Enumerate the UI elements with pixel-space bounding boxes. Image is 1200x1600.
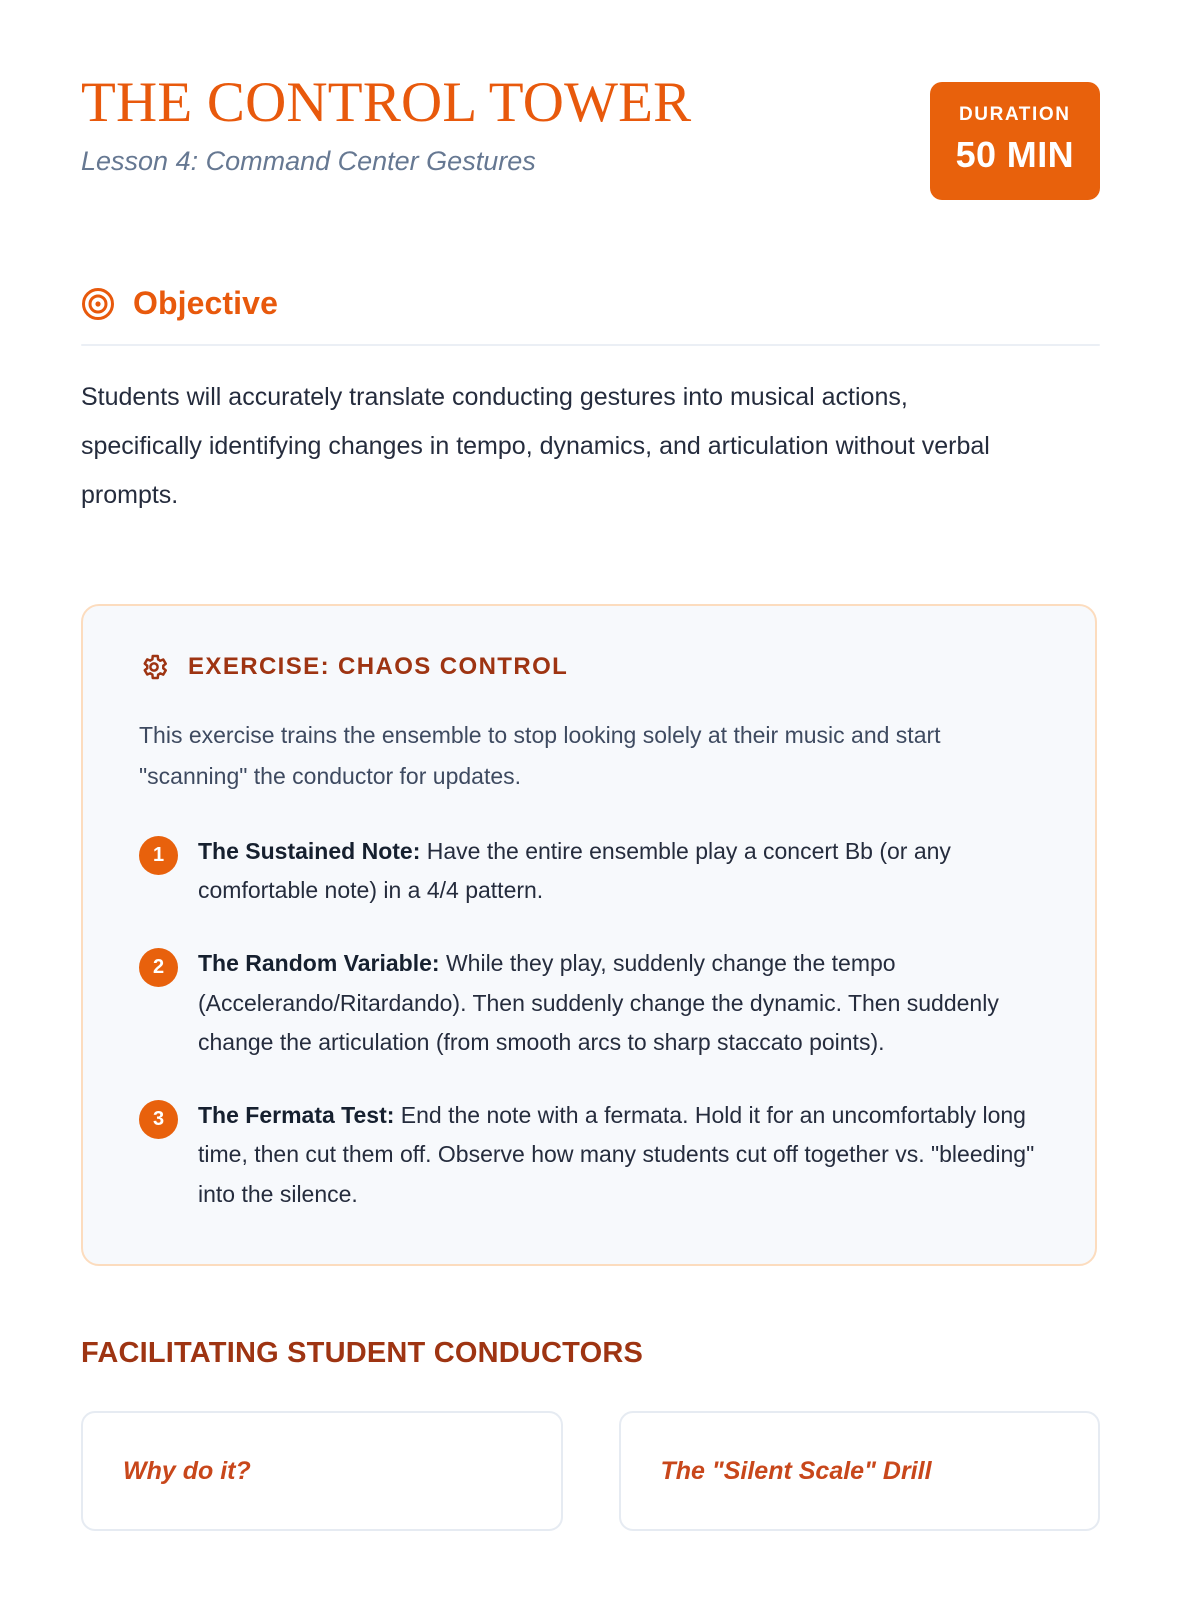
page-title: THE CONTROL TOWER (81, 72, 930, 134)
exercise-title: EXERCISE: CHAOS CONTROL (188, 654, 568, 680)
objective-body: Students will accurately translate condu… (81, 373, 1031, 519)
facilitating-heading: FACILITATING STUDENT CONDUCTORS (81, 1338, 1100, 1370)
page-subtitle: Lesson 4: Command Center Gestures (81, 144, 930, 179)
header-text-block: THE CONTROL TOWER Lesson 4: Command Cent… (81, 72, 930, 179)
info-card-title: The "Silent Scale" Drill (661, 1455, 1063, 1488)
exercise-heading-row: EXERCISE: CHAOS CONTROL (139, 652, 1051, 682)
exercise-card: EXERCISE: CHAOS CONTROL This exercise tr… (81, 604, 1097, 1266)
gear-icon (139, 652, 169, 682)
step-text: The Random Variable: While they play, su… (198, 944, 1051, 1063)
facilitating-card-grid: Why do it? The "Silent Scale" Drill (81, 1411, 1100, 1531)
step-lead: The Sustained Note: (198, 838, 420, 864)
duration-label: DURATION (956, 104, 1074, 127)
exercise-step: 2 The Random Variable: While they play, … (139, 944, 1051, 1063)
info-card: The "Silent Scale" Drill (619, 1411, 1101, 1531)
step-text: The Sustained Note: Have the entire ense… (198, 832, 1051, 911)
exercise-intro: This exercise trains the ensemble to sto… (139, 715, 1019, 796)
step-lead: The Random Variable: (198, 950, 440, 976)
step-lead: The Fermata Test: (198, 1102, 394, 1128)
objective-title: Objective (133, 286, 278, 321)
step-text: The Fermata Test: End the note with a fe… (198, 1096, 1051, 1215)
objective-section: Objective Students will accurately trans… (0, 286, 1200, 519)
exercise-step: 3 The Fermata Test: End the note with a … (139, 1096, 1051, 1215)
info-card-title: Why do it? (123, 1455, 525, 1488)
duration-badge: DURATION 50 MIN (930, 82, 1100, 200)
exercise-step: 1 The Sustained Note: Have the entire en… (139, 832, 1051, 911)
target-icon (81, 287, 115, 321)
lesson-page: THE CONTROL TOWER Lesson 4: Command Cent… (0, 0, 1200, 1600)
section-divider (81, 344, 1100, 346)
exercise-step-list: 1 The Sustained Note: Have the entire en… (139, 832, 1051, 1214)
page-header: THE CONTROL TOWER Lesson 4: Command Cent… (0, 0, 1200, 200)
duration-value: 50 MIN (956, 133, 1074, 176)
info-card: Why do it? (81, 1411, 563, 1531)
step-number-badge: 3 (139, 1100, 178, 1139)
objective-heading-row: Objective (81, 286, 1100, 321)
step-number-badge: 2 (139, 948, 178, 987)
facilitating-section: FACILITATING STUDENT CONDUCTORS Why do i… (0, 1338, 1200, 1531)
step-number-badge: 1 (139, 836, 178, 875)
